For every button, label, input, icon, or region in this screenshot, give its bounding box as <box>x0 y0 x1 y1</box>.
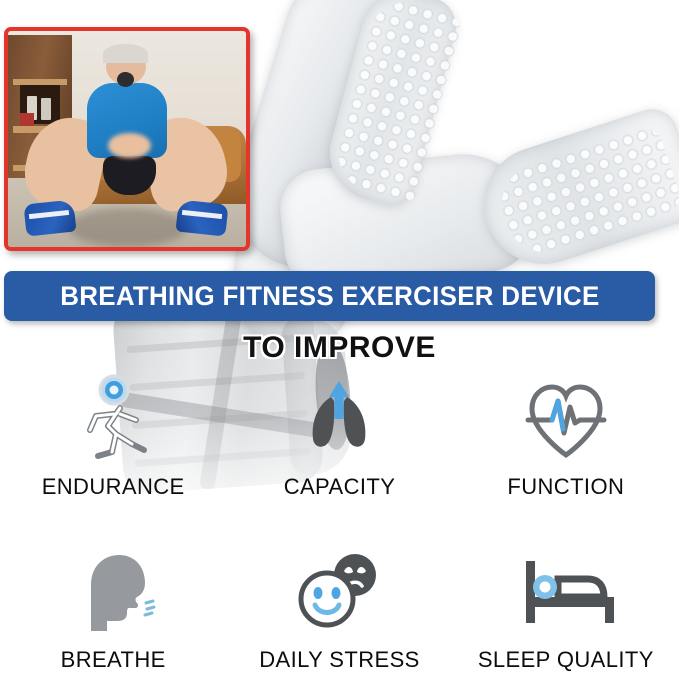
benefit-sleep-quality: SLEEP QUALITY <box>453 545 679 686</box>
lungs-up-arrow-icon <box>293 372 385 468</box>
benefit-label: SLEEP QUALITY <box>478 647 654 673</box>
product-in-use-photo <box>4 27 250 251</box>
benefit-label: FUNCTION <box>507 474 624 500</box>
benefit-capacity: CAPACITY <box>226 372 452 513</box>
benefit-label: DAILY STRESS <box>259 647 420 673</box>
running-person-icon <box>70 372 156 468</box>
benefits-grid: ENDURANCE CAPACITY FUNCTION <box>0 372 679 686</box>
benefit-breathe: BREATHE <box>0 545 226 686</box>
happy-sad-faces-icon <box>289 545 389 641</box>
benefit-daily-stress: DAILY STRESS <box>226 545 452 686</box>
benefit-label: ENDURANCE <box>42 474 185 500</box>
title-banner-text: BREATHING FITNESS EXERCISER DEVICE <box>60 281 599 312</box>
benefit-endurance: ENDURANCE <box>0 372 226 513</box>
heart-ecg-icon <box>518 372 614 468</box>
title-banner: BREATHING FITNESS EXERCISER DEVICE <box>4 271 655 321</box>
benefit-function: FUNCTION <box>453 372 679 513</box>
subtitle-text: TO IMPROVE <box>0 331 679 365</box>
head-profile-breath-icon <box>65 545 161 641</box>
benefit-label: BREATHE <box>61 647 166 673</box>
bed-sleeping-person-icon <box>514 545 618 641</box>
benefit-label: CAPACITY <box>284 474 396 500</box>
